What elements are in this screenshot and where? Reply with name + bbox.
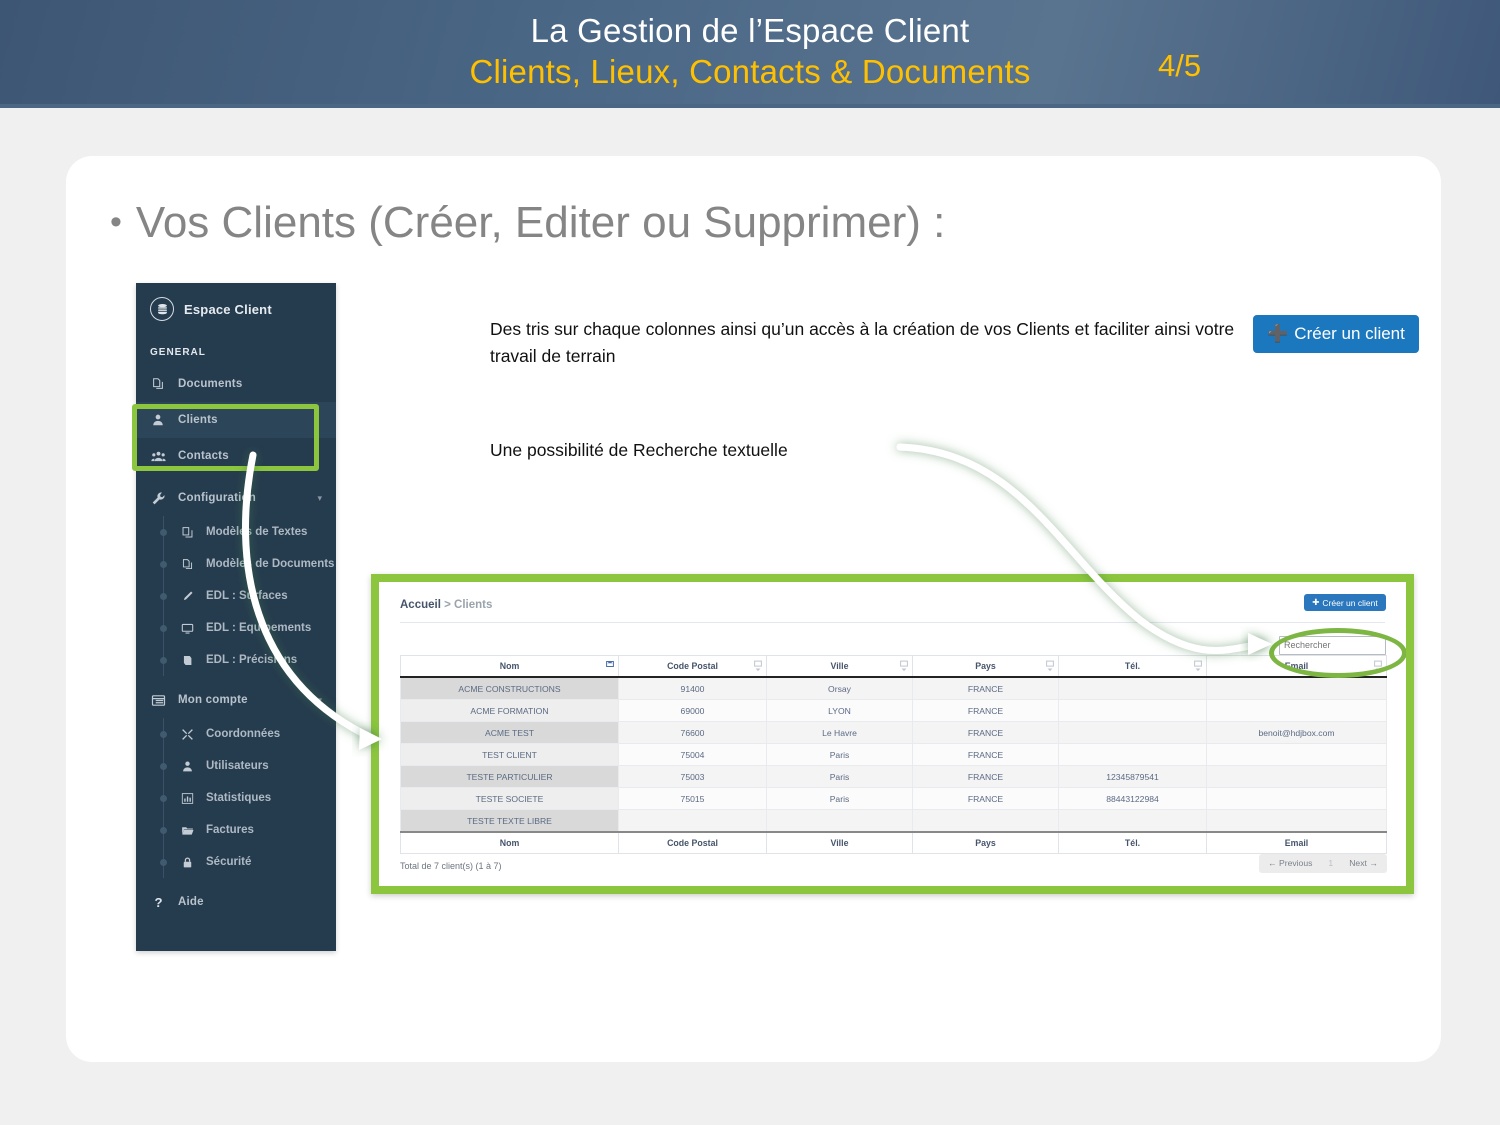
cell-tel	[1059, 810, 1207, 833]
users-icon	[150, 448, 166, 464]
sidebar-item-utilisateurs[interactable]: Utilisateurs	[136, 750, 336, 782]
book-icon	[180, 653, 195, 668]
footer-label-email: Email	[1207, 832, 1387, 854]
cell-code-postal: 91400	[619, 677, 767, 700]
cell-tel: 88443122984	[1059, 788, 1207, 810]
sidebar-item-label: EDL : Equipements	[206, 622, 311, 634]
banner-title-line2: Clients, Lieux, Contacts & Documents	[469, 51, 1030, 93]
sidebar-item-label: Statistiques	[206, 792, 271, 804]
sidebar-item-label: Documents	[178, 378, 242, 390]
bar-chart-icon	[180, 791, 195, 806]
cell-pays: FRANCE	[913, 788, 1059, 810]
wrench-icon	[150, 490, 166, 506]
cell-pays	[913, 810, 1059, 833]
copy-icon	[180, 525, 195, 540]
create-client-button-callout[interactable]: ➕ Créer un client	[1253, 315, 1419, 353]
clients-list-screenshot: Accueil > Clients ✚ Créer un client Nom	[379, 582, 1406, 886]
cell-nom: TESTE TEXTE LIBRE	[401, 810, 619, 833]
create-client-button[interactable]: ✚ Créer un client	[1304, 594, 1386, 611]
sort-asc-icon[interactable]	[606, 661, 614, 672]
pagination: ← Previous 1 Next →	[1259, 854, 1387, 873]
cell-code-postal: 76600	[619, 722, 767, 744]
cell-ville: LYON	[767, 700, 913, 722]
sidebar-item-label: Utilisateurs	[206, 760, 269, 772]
sort-both-icon[interactable]	[900, 661, 908, 672]
cell-tel	[1059, 700, 1207, 722]
sidebar-item-label: EDL : Surfaces	[206, 590, 288, 602]
pagination-next[interactable]: Next →	[1340, 854, 1387, 873]
sidebar-item-mon-compte[interactable]: Mon compte ▾	[136, 682, 336, 718]
cell-nom: ACME FORMATION	[401, 700, 619, 722]
page-title-text: Vos Clients (Créer, Editer ou Supprimer)…	[136, 198, 945, 247]
column-header-email[interactable]: Email	[1207, 656, 1387, 678]
banner-title-line1: La Gestion de l’Espace Client	[531, 11, 970, 51]
cell-ville: Paris	[767, 766, 913, 788]
table-row[interactable]: ACME FORMATION 69000 LYON FRANCE	[401, 700, 1387, 722]
cell-email	[1207, 677, 1387, 700]
page-title: •Vos Clients (Créer, Editer ou Supprimer…	[110, 198, 945, 248]
sort-both-icon[interactable]	[1046, 661, 1054, 672]
chevron-down-icon: ▾	[317, 493, 322, 504]
breadcrumb-separator: >	[444, 599, 451, 611]
sidebar-section-general: GENERAL	[136, 335, 336, 366]
sidebar-item-edl-equipements[interactable]: EDL : Equipements	[136, 612, 336, 644]
column-label: Ville	[831, 661, 849, 671]
cell-code-postal	[619, 810, 767, 833]
sidebar-item-label: Modèles de Documents	[206, 558, 334, 570]
annotation-search-text: Une possibilité de Recherche textuelle	[490, 440, 788, 461]
sidebar-item-documents[interactable]: Documents	[136, 366, 336, 402]
cell-pays: FRANCE	[913, 677, 1059, 700]
breadcrumb-current: Clients	[454, 599, 492, 611]
footer-label-ville: Ville	[767, 832, 913, 854]
cell-ville	[767, 810, 913, 833]
clients-list-screenshot-frame: Accueil > Clients ✚ Créer un client Nom	[371, 574, 1414, 894]
column-label: Code Postal	[667, 661, 718, 671]
create-client-label: Créer un client	[1322, 598, 1377, 608]
column-label: Nom	[500, 661, 520, 671]
breadcrumb: Accueil > Clients	[400, 599, 492, 611]
sidebar-item-label: Modèles de Textes	[206, 526, 307, 538]
column-header-ville[interactable]: Ville	[767, 656, 913, 678]
cell-pays: FRANCE	[913, 722, 1059, 744]
sidebar-item-label: Sécurité	[206, 856, 251, 868]
sidebar-item-modeles-de-textes[interactable]: Modèles de Textes	[136, 516, 336, 548]
cell-tel	[1059, 677, 1207, 700]
cell-ville: Paris	[767, 788, 913, 810]
table-row[interactable]: TESTE SOCIETE 75015 Paris FRANCE 8844312…	[401, 788, 1387, 810]
banner-bottom-edge	[0, 104, 1500, 108]
pagination-previous[interactable]: ← Previous	[1259, 854, 1321, 873]
cell-email	[1207, 788, 1387, 810]
cell-ville: Orsay	[767, 677, 913, 700]
column-header-pays[interactable]: Pays	[913, 656, 1059, 678]
question-icon: ?	[150, 894, 166, 910]
cell-nom: TESTE SOCIETE	[401, 788, 619, 810]
monitor-icon	[180, 621, 195, 636]
sort-both-icon[interactable]	[1374, 661, 1382, 672]
sidebar-item-edl-precisions[interactable]: EDL : Précisions	[136, 644, 336, 676]
footer-label-pays: Pays	[913, 832, 1059, 854]
sidebar-brand-label: Espace Client	[184, 302, 272, 317]
folder-icon	[180, 823, 195, 838]
cell-nom: TESTE PARTICULIER	[401, 766, 619, 788]
footer-label-nom: Nom	[401, 832, 619, 854]
breadcrumb-divider	[400, 622, 1385, 623]
user-icon	[180, 759, 195, 774]
cell-email: benoit@hdjbox.com	[1207, 722, 1387, 744]
search-box	[1279, 635, 1386, 654]
pencil-icon	[180, 589, 195, 604]
table-row[interactable]: ACME CONSTRUCTIONS 91400 Orsay FRANCE	[401, 677, 1387, 700]
window-icon	[150, 692, 166, 708]
plus-icon: ➕	[1267, 324, 1288, 344]
sidebar-item-configuration[interactable]: Configuration ▾	[136, 480, 336, 516]
table-header-row: Nom Code Postal Vill	[401, 656, 1387, 678]
clients-table: Nom Code Postal Vill	[400, 655, 1387, 854]
column-label: Tél.	[1125, 661, 1140, 671]
plus-icon: ✚	[1312, 597, 1319, 608]
sidebar-item-label: Contacts	[178, 450, 229, 462]
footer-label-code-postal: Code Postal	[619, 832, 767, 854]
cell-email	[1207, 766, 1387, 788]
search-input[interactable]	[1279, 636, 1386, 655]
cell-ville: Le Havre	[767, 722, 913, 744]
sidebar-item-label: Clients	[178, 414, 218, 426]
table-row[interactable]: TEST CLIENT 75004 Paris FRANCE	[401, 744, 1387, 766]
cell-pays: FRANCE	[913, 700, 1059, 722]
cell-tel	[1059, 744, 1207, 766]
app-sidebar: Espace Client GENERAL Documents Clients	[136, 283, 336, 951]
table-row[interactable]: TESTE PARTICULIER 75003 Paris FRANCE 123…	[401, 766, 1387, 788]
cell-code-postal: 75004	[619, 744, 767, 766]
clients-table-body: ACME CONSTRUCTIONS 91400 Orsay FRANCE AC…	[401, 677, 1387, 832]
sidebar-subgroup-mon-compte: Coordonnées Utilisateurs Statistiques	[136, 718, 336, 878]
annotation-sorting-text: Des tris sur chaque colonnes ainsi qu’un…	[490, 316, 1250, 370]
cell-code-postal: 75003	[619, 766, 767, 788]
table-footer-row: Nom Code Postal Ville Pays Tél. Email	[401, 832, 1387, 854]
sort-both-icon[interactable]	[754, 661, 762, 672]
sidebar-brand[interactable]: Espace Client	[136, 283, 336, 335]
cell-tel	[1059, 722, 1207, 744]
sidebar-item-label: Mon compte	[178, 694, 248, 706]
sidebar-item-clients[interactable]: Clients	[136, 402, 336, 438]
sidebar-item-label: EDL : Précisions	[206, 654, 297, 666]
cell-email	[1207, 744, 1387, 766]
table-row[interactable]: TESTE TEXTE LIBRE	[401, 810, 1387, 833]
expand-icon	[180, 727, 195, 742]
sidebar-item-contacts[interactable]: Contacts	[136, 438, 336, 474]
column-header-tel[interactable]: Tél.	[1059, 656, 1207, 678]
sidebar-item-modeles-de-documents[interactable]: Modèles de Documents	[136, 548, 336, 580]
database-icon	[150, 297, 174, 321]
cell-pays: FRANCE	[913, 766, 1059, 788]
sidebar-item-label: Configuration	[178, 492, 256, 504]
cell-nom: ACME CONSTRUCTIONS	[401, 677, 619, 700]
sidebar-subgroup-configuration: Modèles de Textes Modèles de Documents E…	[136, 516, 336, 676]
cell-code-postal: 75015	[619, 788, 767, 810]
total-count-label: Total de 7 client(s) (1 à 7)	[400, 861, 502, 871]
cell-ville: Paris	[767, 744, 913, 766]
column-header-code-postal[interactable]: Code Postal	[619, 656, 767, 678]
sidebar-item-securite[interactable]: Sécurité	[136, 846, 336, 878]
cell-nom: ACME TEST	[401, 722, 619, 744]
svg-text:?: ?	[154, 895, 162, 910]
column-label: Pays	[975, 661, 996, 671]
cell-email	[1207, 810, 1387, 833]
sidebar-item-statistiques[interactable]: Statistiques	[136, 782, 336, 814]
sort-both-icon[interactable]	[1194, 661, 1202, 672]
sidebar-item-coordonnees[interactable]: Coordonnées	[136, 718, 336, 750]
cell-nom: TEST CLIENT	[401, 744, 619, 766]
documents-icon	[150, 376, 166, 392]
lock-icon	[180, 855, 195, 870]
slide-banner: La Gestion de l’Espace Client Clients, L…	[0, 0, 1500, 104]
sidebar-item-factures[interactable]: Factures	[136, 814, 336, 846]
cell-email	[1207, 700, 1387, 722]
pagination-page-1[interactable]: 1	[1321, 854, 1340, 873]
cell-pays: FRANCE	[913, 744, 1059, 766]
sidebar-item-label: Coordonnées	[206, 728, 280, 740]
sidebar-item-label: Aide	[178, 896, 204, 908]
user-icon	[150, 412, 166, 428]
chevron-down-icon: ▾	[317, 695, 322, 706]
breadcrumb-home[interactable]: Accueil	[400, 599, 441, 611]
create-client-label: Créer un client	[1294, 324, 1405, 344]
page-indicator: 4/5	[1158, 48, 1201, 84]
table-row[interactable]: ACME TEST 76600 Le Havre FRANCE benoit@h…	[401, 722, 1387, 744]
cell-code-postal: 69000	[619, 700, 767, 722]
sidebar-item-edl-surfaces[interactable]: EDL : Surfaces	[136, 580, 336, 612]
documents-icon	[180, 557, 195, 572]
cell-tel: 12345879541	[1059, 766, 1207, 788]
bullet-glyph: •	[110, 203, 122, 242]
sidebar-item-label: Factures	[206, 824, 254, 836]
sidebar-item-aide[interactable]: ? Aide	[136, 884, 336, 920]
column-header-nom[interactable]: Nom	[401, 656, 619, 678]
footer-label-tel: Tél.	[1059, 832, 1207, 854]
column-label: Email	[1285, 661, 1308, 671]
